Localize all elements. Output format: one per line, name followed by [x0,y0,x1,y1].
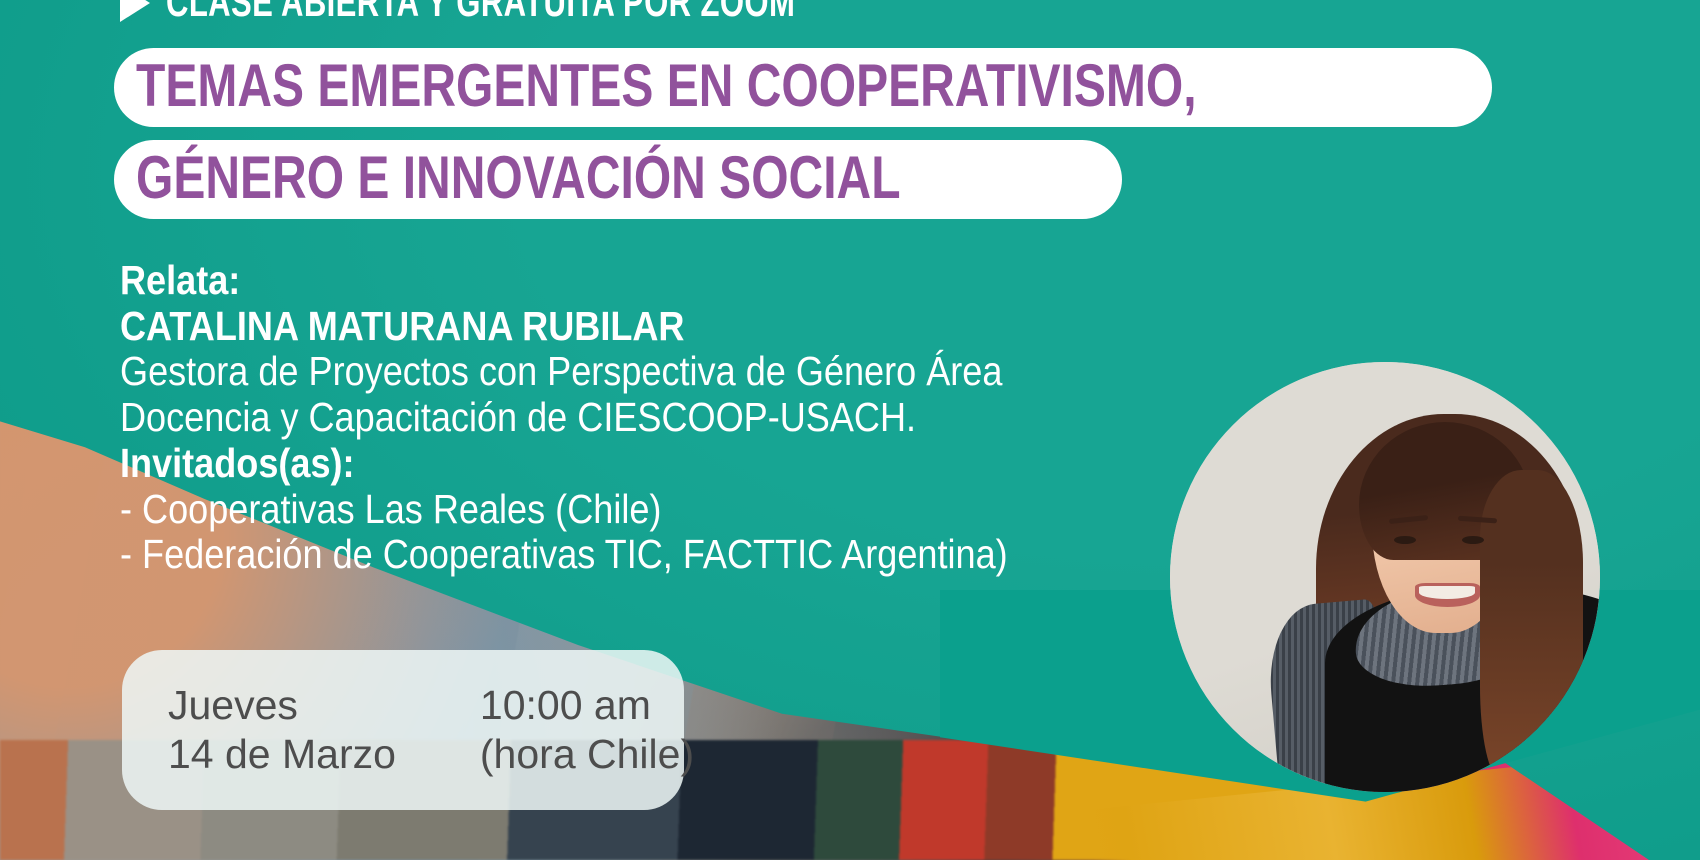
date-column: Jueves 14 de Marzo [122,681,396,779]
event-timezone: (hora Chile) [480,730,694,779]
guest-item-1: - Cooperativas Las Reales (Chile) [120,487,1000,533]
event-poster: CLASE ABIERTA Y GRATUITA POR ZOOM TEMAS … [0,0,1700,860]
portrait-hair-side [1480,470,1583,780]
speaker-role-line-1: Gestora de Proyectos con Perspectiva de … [120,349,1000,395]
eyebrow-row: CLASE ABIERTA Y GRATUITA POR ZOOM [120,0,1016,26]
speaker-portrait [1170,362,1600,792]
speaker-label: Relata: [120,258,1000,304]
day-name: Jueves [168,681,396,730]
guest-item-2: - Federación de Cooperativas TIC, FACTTI… [120,532,1000,578]
title-line-2: GÉNERO E INNOVACIÓN SOCIAL [136,146,901,209]
guests-label: Invitados(as): [120,441,1000,487]
title-pill-2: GÉNERO E INNOVACIÓN SOCIAL [114,140,1122,219]
play-triangle-icon [120,0,150,22]
speaker-name: CATALINA MATURANA RUBILAR [120,304,1000,350]
title-pill-1: TEMAS EMERGENTES EN COOPERATIVISMO, [114,48,1492,127]
body-copy: Relata: CATALINA MATURANA RUBILAR Gestor… [120,258,1120,578]
eyebrow-label: CLASE ABIERTA Y GRATUITA POR ZOOM [166,0,795,26]
event-time: 10:00 am [480,681,694,730]
title-block: TEMAS EMERGENTES EN COOPERATIVISMO, GÉNE… [114,48,1700,232]
date-time-card: Jueves 14 de Marzo 10:00 am (hora Chile) [122,650,684,810]
title-line-1: TEMAS EMERGENTES EN COOPERATIVISMO, [136,54,1197,117]
speaker-role-line-2: Docencia y Capacitación de CIESCOOP-USAC… [120,395,1000,441]
portrait-eye-left [1394,536,1416,544]
time-column: 10:00 am (hora Chile) [438,681,694,779]
day-date: 14 de Marzo [168,730,396,779]
